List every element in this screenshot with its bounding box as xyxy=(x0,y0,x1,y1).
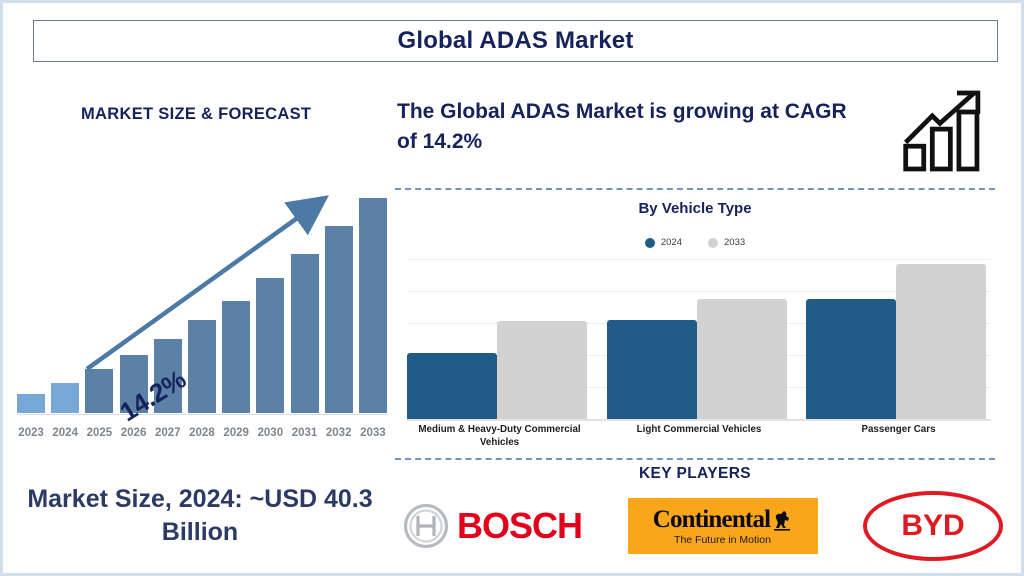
year-label: 2023 xyxy=(17,427,45,439)
page-title: Global ADAS Market xyxy=(397,27,633,55)
market-size-note: Market Size, 2024: ~USD 40.3 Billion xyxy=(15,483,385,549)
continental-horse-icon xyxy=(772,509,792,531)
forecast-bar-2032 xyxy=(325,179,353,413)
year-label: 2028 xyxy=(188,427,216,439)
bar xyxy=(256,278,284,413)
byd-wordmark: BYD xyxy=(901,509,964,543)
market-forecast-chart: 2023202420252026202720282029203020312032… xyxy=(11,179,393,459)
legend-dot-icon xyxy=(708,238,718,248)
year-label: 2027 xyxy=(154,427,182,439)
logo-bosch: BOSCH xyxy=(403,489,582,563)
bar-2033 xyxy=(896,264,986,419)
forecast-bar-2025 xyxy=(85,179,113,413)
bar-2024 xyxy=(607,320,697,419)
vehicle-type-bar-groups xyxy=(407,259,991,419)
forecast-bar-2023 xyxy=(17,179,45,413)
legend-item-2024[interactable]: 2024 xyxy=(645,237,682,248)
legend-label: 2024 xyxy=(661,237,682,248)
bar-2024 xyxy=(407,353,497,419)
bar-2033 xyxy=(497,321,587,419)
key-players-title: KEY PLAYERS xyxy=(395,465,995,483)
bar-group xyxy=(407,259,592,419)
forecast-bar-2024 xyxy=(51,179,79,413)
year-label: 2031 xyxy=(291,427,319,439)
legend-label: 2033 xyxy=(724,237,745,248)
growth-arrow-bars-icon xyxy=(900,87,995,175)
bar xyxy=(85,369,113,413)
bosch-wordmark: BOSCH xyxy=(457,505,582,547)
vehicle-type-category-labels: Medium & Heavy-Duty Commercial VehiclesL… xyxy=(407,423,991,449)
cagr-headline: The Global ADAS Market is growing at CAG… xyxy=(397,97,857,157)
logo-byd: BYD xyxy=(863,489,1003,563)
key-players-row: BOSCH Continental The Future in Motion B… xyxy=(403,489,1003,563)
market-size-forecast-label: MARKET SIZE & FORECAST xyxy=(81,105,311,124)
year-label: 2029 xyxy=(222,427,250,439)
year-label: 2033 xyxy=(359,427,387,439)
year-label: 2026 xyxy=(120,427,148,439)
bar-2024 xyxy=(806,299,896,419)
continental-wordmark: Continental xyxy=(653,507,771,533)
forecast-bar-2026 xyxy=(120,179,148,413)
bar xyxy=(291,254,319,413)
vehicle-type-axis-line xyxy=(407,419,991,421)
bar xyxy=(17,394,45,413)
year-label: 2030 xyxy=(256,427,284,439)
bar xyxy=(222,301,250,413)
legend-dot-icon xyxy=(645,238,655,248)
forecast-year-labels: 2023202420252026202720282029203020312032… xyxy=(17,427,387,439)
bar xyxy=(359,198,387,413)
bar-2033 xyxy=(697,299,787,419)
forecast-bar-2033 xyxy=(359,179,387,413)
bar-group xyxy=(806,259,991,419)
year-label: 2032 xyxy=(325,427,353,439)
forecast-bars xyxy=(17,179,387,413)
divider-bottom xyxy=(395,458,995,460)
vehicle-type-chart xyxy=(407,259,991,419)
vehicle-type-legend: 20242033 xyxy=(395,237,995,248)
year-label: 2024 xyxy=(51,427,79,439)
continental-wordmark-row: Continental xyxy=(653,507,793,533)
forecast-bar-2030 xyxy=(256,179,284,413)
bar xyxy=(51,383,79,413)
bar xyxy=(188,320,216,413)
category-label: Medium & Heavy-Duty Commercial Vehicles xyxy=(407,423,592,449)
category-label: Passenger Cars xyxy=(806,423,991,449)
forecast-bar-2028 xyxy=(188,179,216,413)
forecast-bar-2029 xyxy=(222,179,250,413)
forecast-bar-2031 xyxy=(291,179,319,413)
bosch-emblem-icon xyxy=(403,503,449,549)
divider-top xyxy=(395,188,995,190)
vehicle-type-title: By Vehicle Type xyxy=(395,200,995,217)
year-label: 2025 xyxy=(85,427,113,439)
category-label: Light Commercial Vehicles xyxy=(607,423,792,449)
logo-continental: Continental The Future in Motion xyxy=(628,489,818,563)
bar-group xyxy=(607,259,792,419)
continental-tagline: The Future in Motion xyxy=(674,534,771,546)
infographic-canvas: Global ADAS Market MARKET SIZE & FORECAS… xyxy=(0,0,1024,576)
page-title-box: Global ADAS Market xyxy=(33,20,998,62)
forecast-axis-line xyxy=(17,414,387,415)
legend-item-2033[interactable]: 2033 xyxy=(708,237,745,248)
bar xyxy=(325,226,353,413)
